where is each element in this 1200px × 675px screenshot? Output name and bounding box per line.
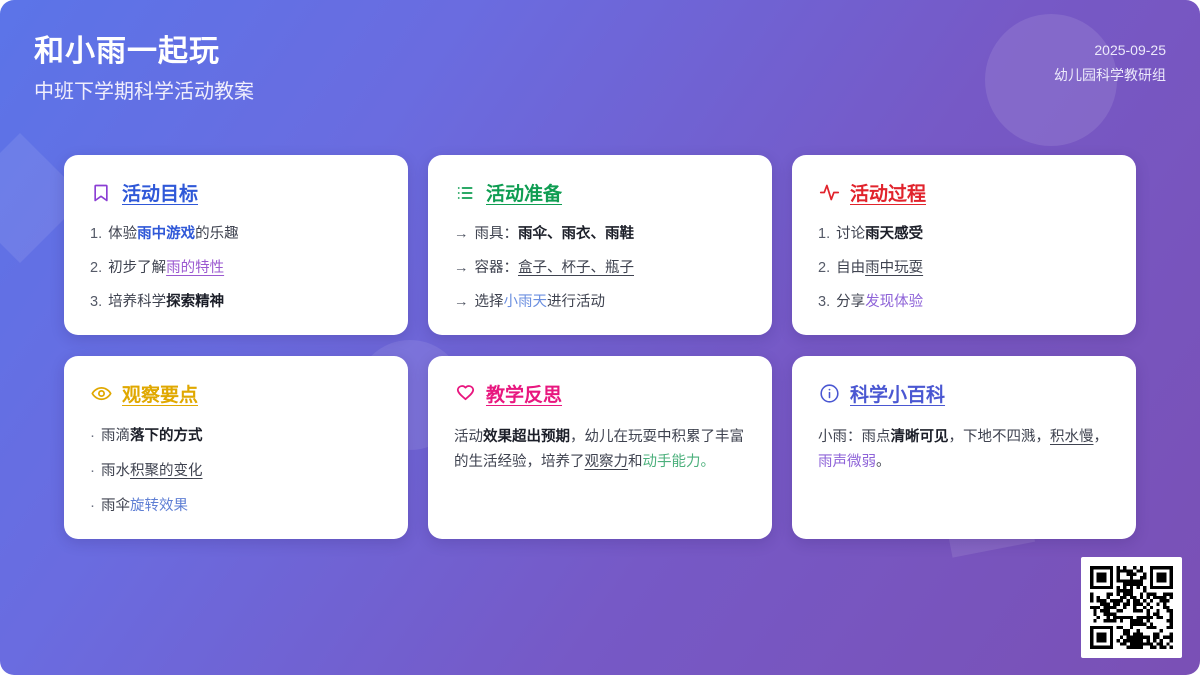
text-part: 雨水 [101,463,130,479]
card-title: 活动目标 [122,179,198,206]
text-part: 。 [701,454,716,470]
text-part: 培养科学 [108,294,166,310]
text-part: 小雨：雨点 [818,429,891,445]
text-part: 小雨天 [504,294,548,310]
qr-code-canvas [1090,566,1173,649]
text-part: 体验 [108,226,137,242]
list-item-marker: → [454,258,469,279]
qr-code[interactable] [1081,557,1182,658]
list-item-text: 分享发现体验 [836,292,923,313]
list-item: 2.初步了解雨的特性 [90,258,382,279]
list-item-text: 雨滴落下的方式 [101,426,203,447]
text-part: 进行活动 [547,294,605,310]
header-org: 幼儿园科学教研组 [1054,63,1166,88]
list-item: 1.讨论雨天感受 [818,224,1110,245]
text-part: 讨论 [836,226,865,242]
text-part: ， [1094,429,1109,445]
list-item-text: 讨论雨天感受 [836,224,923,245]
list-item: ·雨滴落下的方式 [90,425,382,447]
list-item-marker: 2. [90,258,102,279]
list-item-text: 雨水积聚的变化 [101,461,203,482]
list-item: →雨具：雨伞、雨衣、雨鞋 [454,224,746,245]
text-part: 雨滴 [101,428,130,444]
text-part: 落下的方式 [130,428,203,444]
text-part: 雨具： [475,226,519,242]
card-paragraph: 活动效果超出预期，幼儿在玩耍中积累了丰富的生活经验，培养了观察力和动手能力。 [454,425,746,475]
text-part: 积聚的变化 [130,463,203,479]
text-part: 效果超出预期 [483,429,570,445]
card-body: ·雨滴落下的方式·雨水积聚的变化·雨伞旋转效果 [90,425,382,517]
card-body: →雨具：雨伞、雨衣、雨鞋→容器：盒子、杯子、瓶子→选择小雨天进行活动 [454,224,746,313]
list-item-marker: · [90,425,95,447]
card-title: 观察要点 [122,380,198,407]
text-part: 和 [628,454,643,470]
card-reflection: 教学反思活动效果超出预期，幼儿在玩耍中积累了丰富的生活经验，培养了观察力和动手能… [428,356,772,539]
card-header: 科学小百科 [818,380,1110,407]
text-part: 旋转效果 [130,498,188,514]
text-part: 盒子、杯子、瓶子 [518,260,634,276]
card-title: 活动过程 [850,179,926,206]
slide-header: 和小雨一起玩 中班下学期科学活动教案 2025-09-25 幼儿园科学教研组 [0,0,1200,132]
text-part: 的乐趣 [195,226,239,242]
text-part: ，下地不四溅， [949,429,1051,445]
text-part: 积水慢 [1050,429,1094,445]
activity-icon [818,182,840,204]
list-item-text: 雨具：雨伞、雨衣、雨鞋 [475,224,635,245]
text-part: 雨伞 [101,498,130,514]
card-grid: 活动目标1.体验雨中游戏的乐趣2.初步了解雨的特性3.培养科学探索精神活动准备→… [64,155,1136,539]
list-item-text: 自由雨中玩耍 [836,258,923,279]
header-date: 2025-09-25 [1054,38,1166,63]
list-item-marker: 3. [90,292,102,313]
card-body: 小雨：雨点清晰可见，下地不四溅，积水慢，雨声微弱。 [818,425,1110,475]
text-part: 活动 [454,429,483,445]
text-part: 选择 [475,294,504,310]
card-preparation: 活动准备→雨具：雨伞、雨衣、雨鞋→容器：盒子、杯子、瓶子→选择小雨天进行活动 [428,155,772,335]
text-part: 动手能力 [643,454,701,470]
list-item: →选择小雨天进行活动 [454,292,746,313]
list-item-marker: 1. [818,224,830,245]
slide-root: 和小雨一起玩 中班下学期科学活动教案 2025-09-25 幼儿园科学教研组 活… [0,0,1200,675]
text-part: 发现体验 [865,294,923,310]
list-icon [454,182,476,204]
list-item-text: 培养科学探索精神 [108,292,224,313]
card-process: 活动过程1.讨论雨天感受2.自由雨中玩耍3.分享发现体验 [792,155,1136,335]
list-item-marker: 3. [818,292,830,313]
text-part: 清晰可见 [891,429,949,445]
list-item: ·雨伞旋转效果 [90,495,382,517]
card-objectives: 活动目标1.体验雨中游戏的乐趣2.初步了解雨的特性3.培养科学探索精神 [64,155,408,335]
list-item-text: 体验雨中游戏的乐趣 [108,224,239,245]
text-part: 自由 [836,260,865,276]
list-item-text: 容器：盒子、杯子、瓶子 [475,258,635,279]
text-part: 初步了解 [108,260,166,276]
card-paragraph: 小雨：雨点清晰可见，下地不四溅，积水慢，雨声微弱。 [818,425,1110,475]
card-title: 科学小百科 [850,380,945,407]
card-body: 活动效果超出预期，幼儿在玩耍中积累了丰富的生活经验，培养了观察力和动手能力。 [454,425,746,475]
list-item-marker: → [454,224,469,245]
list-item: 3.分享发现体验 [818,292,1110,313]
page-subtitle: 中班下学期科学活动教案 [34,80,254,104]
text-part: 分享 [836,294,865,310]
header-meta: 2025-09-25 幼儿园科学教研组 [1054,38,1166,87]
list-item: →容器：盒子、杯子、瓶子 [454,258,746,279]
list-item-text: 选择小雨天进行活动 [475,292,606,313]
heart-icon [454,383,476,405]
list-item: 1.体验雨中游戏的乐趣 [90,224,382,245]
list-item: 3.培养科学探索精神 [90,292,382,313]
page-title: 和小雨一起玩 [34,34,220,70]
bookmark-icon [90,182,112,204]
text-part: 雨中游戏 [137,226,195,242]
text-part: 容器： [475,260,519,276]
card-title: 活动准备 [486,179,562,206]
card-header: 活动目标 [90,179,382,206]
list-item-text: 初步了解雨的特性 [108,258,224,279]
eye-icon [90,383,112,405]
list-item: ·雨水积聚的变化 [90,460,382,482]
card-header: 教学反思 [454,380,746,407]
text-part: 雨伞、雨衣、雨鞋 [518,226,634,242]
card-title: 教学反思 [486,380,562,407]
card-header: 活动过程 [818,179,1110,206]
list-item-marker: · [90,495,95,517]
card-encyclopedia: 科学小百科小雨：雨点清晰可见，下地不四溅，积水慢，雨声微弱。 [792,356,1136,539]
list-item-marker: · [90,460,95,482]
list-item-marker: → [454,292,469,313]
text-part: 雨中玩耍 [865,260,923,276]
text-part: 探索精神 [166,294,224,310]
card-body: 1.体验雨中游戏的乐趣2.初步了解雨的特性3.培养科学探索精神 [90,224,382,313]
text-part: 。 [876,454,891,470]
card-observation: 观察要点·雨滴落下的方式·雨水积聚的变化·雨伞旋转效果 [64,356,408,539]
text-part: 观察力 [585,454,629,470]
info-circle-icon [818,383,840,405]
card-header: 活动准备 [454,179,746,206]
card-header: 观察要点 [90,380,382,407]
text-part: 雨声微弱 [818,454,876,470]
list-item-text: 雨伞旋转效果 [101,496,188,517]
text-part: 雨的特性 [166,260,224,276]
card-body: 1.讨论雨天感受2.自由雨中玩耍3.分享发现体验 [818,224,1110,313]
list-item-marker: 1. [90,224,102,245]
text-part: 雨天感受 [865,226,923,242]
list-item-marker: 2. [818,258,830,279]
list-item: 2.自由雨中玩耍 [818,258,1110,279]
